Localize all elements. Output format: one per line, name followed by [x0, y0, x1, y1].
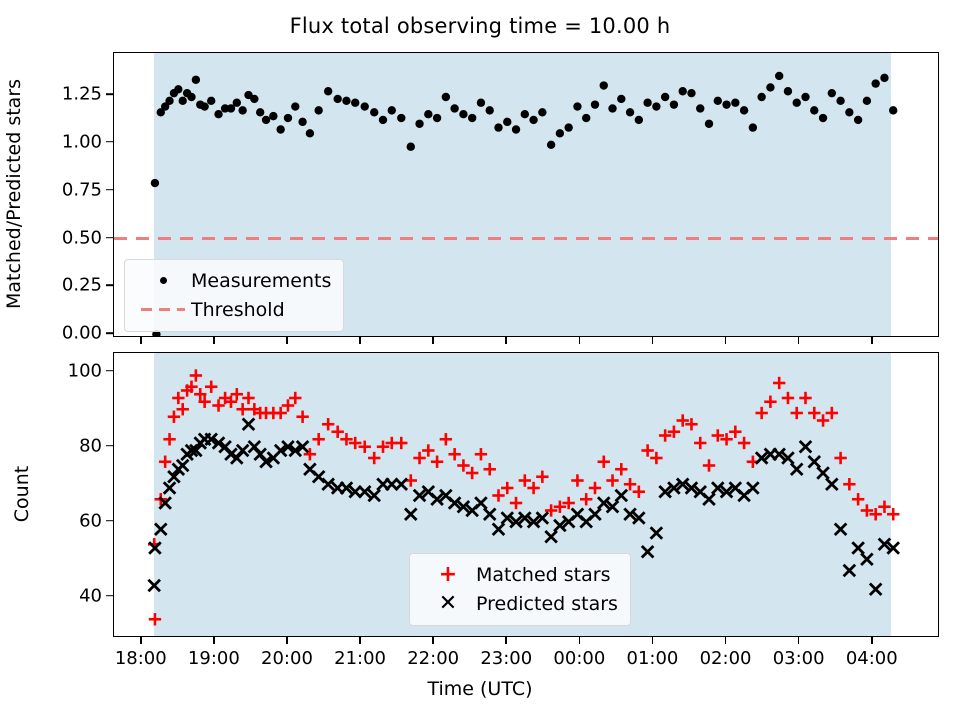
x-tick-mark	[579, 337, 581, 344]
matched-star-point	[422, 444, 434, 456]
measurement-point	[370, 108, 378, 116]
measurement-point	[494, 123, 502, 131]
y-tick-mark	[106, 370, 113, 372]
x-tick-mark	[286, 637, 288, 644]
measurement-point	[233, 99, 241, 107]
x-tick-mark	[798, 637, 800, 644]
predicted-star-point	[405, 508, 417, 520]
legend-item-predicted-stars: ✕ Predicted stars	[420, 589, 618, 618]
x-axis-label: Time (UTC)	[0, 678, 960, 700]
matched-star-point	[738, 437, 750, 449]
matched-star-point	[296, 411, 308, 423]
matched-star-point	[172, 392, 184, 404]
measurement-point	[324, 87, 332, 95]
measurement-point	[889, 106, 897, 114]
matched-star-point	[773, 377, 785, 389]
matched-star-point	[205, 381, 217, 393]
measurement-point	[810, 106, 818, 114]
measurement-point	[284, 114, 292, 122]
x-tick-mark	[140, 337, 142, 344]
measurement-point	[151, 179, 159, 187]
measurement-point	[635, 116, 643, 124]
matched-star-point	[799, 392, 811, 404]
matched-star-point	[729, 426, 741, 438]
x-tick-mark	[725, 637, 727, 644]
x-tick-label: 03:00	[773, 648, 825, 669]
x-tick-mark	[798, 337, 800, 344]
measurement-point	[749, 123, 757, 131]
matched-star-point	[624, 478, 636, 490]
measurement-point	[351, 99, 359, 107]
measurement-point	[529, 116, 537, 124]
legend-item-matched-stars: + Matched stars	[420, 560, 618, 589]
predicted-star-point	[835, 523, 847, 535]
measurement-point	[165, 97, 173, 105]
measurement-point	[256, 108, 264, 116]
x-tick-label: 21:00	[334, 648, 386, 669]
matched-star-point	[457, 459, 469, 471]
predicted-star-point	[651, 527, 663, 539]
measurement-point	[291, 102, 299, 110]
predicted-star-point	[642, 546, 654, 558]
predicted-star-point	[395, 478, 407, 490]
measurement-point	[361, 102, 369, 110]
predicted-star-point	[237, 445, 249, 457]
matched-star-point	[878, 501, 890, 513]
measurement-point	[342, 97, 350, 105]
legend-label-matched-stars: Matched stars	[476, 564, 610, 586]
top-panel-y-axis-label: Matched/Predicted stars	[3, 79, 25, 309]
plus-marker-icon: +	[420, 564, 476, 586]
measurement-point	[608, 104, 616, 112]
matched-star-point	[484, 463, 496, 475]
measurement-point	[442, 93, 450, 101]
matched-star-point	[834, 452, 846, 464]
measurement-point	[477, 99, 485, 107]
page-title: Flux total observing time = 10.00 h	[0, 14, 960, 38]
y-tick-mark	[106, 595, 113, 597]
measurement-point	[757, 93, 765, 101]
y-tick-label: 0.50	[62, 227, 102, 248]
matched-star-point	[236, 403, 248, 415]
measurement-point	[766, 83, 774, 91]
measurement-point	[801, 93, 809, 101]
matched-star-point	[212, 399, 224, 411]
matched-star-point	[580, 493, 592, 505]
matched-star-point	[633, 486, 645, 498]
matched-star-point	[598, 456, 610, 468]
matched-star-point	[168, 411, 180, 423]
matched-star-point	[589, 482, 601, 494]
matched-star-point	[843, 478, 855, 490]
cross-marker-icon: ✕	[420, 593, 476, 615]
x-tick-mark	[286, 337, 288, 344]
top-panel-legend: Measurements Threshold	[124, 259, 344, 332]
predicted-star-point	[808, 456, 820, 468]
predicted-star-point	[493, 523, 505, 535]
predicted-star-point	[703, 493, 715, 505]
predicted-star-point	[545, 531, 557, 543]
measurement-point	[503, 118, 511, 126]
predicted-star-point	[177, 460, 189, 472]
matched-star-point	[322, 418, 334, 430]
x-tick-mark	[140, 637, 142, 644]
measurement-point	[854, 116, 862, 124]
y-tick-mark	[106, 237, 113, 239]
x-tick-label: 04:00	[846, 648, 898, 669]
matched-star-point	[331, 426, 343, 438]
predicted-star-point	[475, 497, 487, 509]
matched-star-point	[149, 613, 161, 625]
measurement-point	[397, 114, 405, 122]
measurement-point	[306, 129, 314, 137]
measurements-dot-icon	[135, 277, 191, 284]
x-tick-label: 23:00	[480, 648, 532, 669]
predicted-star-point	[155, 523, 167, 535]
measurement-point	[626, 108, 634, 116]
measurement-point	[556, 129, 564, 137]
matched-star-point	[466, 467, 478, 479]
measurement-point	[705, 120, 713, 128]
matched-star-point	[312, 433, 324, 445]
measurement-point	[207, 97, 215, 105]
y-tick-mark	[106, 141, 113, 143]
measurement-point	[617, 95, 625, 103]
x-tick-mark	[871, 637, 873, 644]
x-tick-mark	[359, 337, 361, 344]
y-tick-label: 0.25	[62, 275, 102, 296]
predicted-star-point	[615, 490, 627, 502]
x-tick-mark	[505, 637, 507, 644]
matched-star-point	[782, 392, 794, 404]
x-tick-mark	[213, 337, 215, 344]
measurement-point	[652, 102, 660, 110]
predicted-star-point	[791, 463, 803, 475]
x-tick-mark	[505, 337, 507, 344]
matched-star-point	[852, 493, 864, 505]
measurement-point	[661, 93, 669, 101]
legend-label-measurements: Measurements	[191, 270, 331, 292]
measurement-point	[547, 141, 555, 149]
x-tick-label: 22:00	[407, 648, 459, 669]
measurement-point	[379, 116, 387, 124]
bottom-panel-legend: + Matched stars ✕ Predicted stars	[409, 553, 631, 626]
measurement-point	[187, 93, 195, 101]
matched-star-point	[177, 403, 189, 415]
measurement-point	[740, 106, 748, 114]
y-tick-label: 1.25	[62, 84, 102, 105]
matched-star-point	[817, 414, 829, 426]
matched-star-point	[650, 452, 662, 464]
matched-star-point	[492, 489, 504, 501]
matched-star-point	[368, 452, 380, 464]
measurement-point	[573, 102, 581, 110]
matched-star-point	[413, 452, 425, 464]
measurement-point	[679, 87, 687, 95]
measurement-point	[836, 97, 844, 105]
x-tick-mark	[652, 637, 654, 644]
measurement-point	[731, 99, 739, 107]
matched-star-point	[475, 448, 487, 460]
y-tick-mark	[106, 332, 113, 334]
matched-star-point	[606, 474, 618, 486]
x-tick-label: 01:00	[627, 648, 679, 669]
bottom-panel-y-axis-label: Count	[11, 466, 33, 522]
predicted-star-point	[826, 478, 838, 490]
y-tick-label: 0.00	[62, 323, 102, 344]
x-tick-mark	[871, 337, 873, 344]
legend-item-measurements: Measurements	[135, 266, 331, 295]
x-tick-label: 18:00	[115, 648, 167, 669]
measurement-point	[214, 110, 222, 118]
y-tick-mark	[106, 520, 113, 522]
predicted-star-point	[747, 482, 759, 494]
measurement-point	[582, 114, 590, 122]
measurement-point	[521, 110, 529, 118]
measurement-point	[238, 106, 246, 114]
measurement-point	[828, 89, 836, 97]
matched-star-point	[703, 459, 715, 471]
predicted-star-point	[817, 467, 829, 479]
matched-star-point	[694, 437, 706, 449]
matched-star-point	[289, 392, 301, 404]
measurement-point	[468, 114, 476, 122]
x-tick-mark	[579, 637, 581, 644]
matched-star-point	[274, 407, 286, 419]
measurement-point	[486, 106, 494, 114]
measurement-point	[600, 81, 608, 89]
matched-star-point	[431, 456, 443, 468]
measurement-point	[643, 99, 651, 107]
matched-star-point	[615, 463, 627, 475]
threshold-dash-icon	[135, 308, 191, 311]
measurement-point	[591, 100, 599, 108]
measurement-point	[714, 97, 722, 105]
y-tick-mark	[106, 189, 113, 191]
matched-star-point	[395, 437, 407, 449]
measurement-point	[880, 74, 888, 82]
predicted-star-point	[844, 565, 856, 577]
x-tick-label: 20:00	[261, 648, 313, 669]
measurement-point	[459, 110, 467, 118]
matched-star-point	[159, 456, 171, 468]
y-tick-label: 1.00	[62, 131, 102, 152]
matched-star-point	[242, 392, 254, 404]
y-tick-mark	[106, 285, 113, 287]
matched-star-point	[791, 407, 803, 419]
measurement-point	[512, 125, 520, 133]
matched-star-point	[448, 448, 460, 460]
measurement-point	[863, 97, 871, 105]
matched-star-point	[440, 433, 452, 445]
y-tick-mark	[106, 93, 113, 95]
x-tick-mark	[725, 337, 727, 344]
predicted-star-point	[800, 441, 812, 453]
measurement-point	[298, 118, 306, 126]
matched-star-point	[519, 474, 531, 486]
x-tick-label: 02:00	[700, 648, 752, 669]
measurement-point	[407, 143, 415, 151]
x-tick-mark	[213, 637, 215, 644]
measurement-point	[845, 108, 853, 116]
matched-star-point	[510, 497, 522, 509]
y-tick-label: 60	[79, 510, 102, 531]
matched-star-point	[231, 388, 243, 400]
matched-star-point	[764, 396, 776, 408]
matched-star-point	[163, 433, 175, 445]
measurement-point	[696, 104, 704, 112]
predicted-star-point	[589, 508, 601, 520]
matched-star-point	[501, 482, 513, 494]
measurement-point	[174, 85, 182, 93]
measurement-point	[793, 99, 801, 107]
matched-star-point	[887, 508, 899, 520]
measurement-point	[433, 114, 441, 122]
matched-star-point	[527, 482, 539, 494]
legend-label-predicted-stars: Predicted stars	[476, 593, 618, 615]
y-tick-label: 0.75	[62, 179, 102, 200]
predicted-star-point	[852, 542, 864, 554]
measurement-point	[314, 106, 322, 114]
matched-star-point	[190, 369, 202, 381]
measurement-point	[538, 108, 546, 116]
matched-star-point	[571, 474, 583, 486]
matched-star-point	[282, 399, 294, 411]
measurement-point	[819, 114, 827, 122]
matched-star-point	[755, 407, 767, 419]
measurement-point	[333, 95, 341, 103]
x-tick-label: 19:00	[188, 648, 240, 669]
measurement-point	[269, 112, 277, 120]
predicted-star-point	[861, 553, 873, 565]
measurement-point	[784, 87, 792, 95]
y-tick-label: 40	[79, 585, 102, 606]
y-tick-label: 100	[68, 360, 102, 381]
measurement-point	[775, 72, 783, 80]
figure-root: Flux total observing time = 10.00 h 0.00…	[0, 0, 960, 720]
predicted-star-point	[243, 418, 255, 430]
measurement-point	[192, 76, 200, 84]
measurement-point	[276, 125, 284, 133]
measurement-point	[388, 106, 396, 114]
measurement-point	[424, 110, 432, 118]
y-tick-label: 80	[79, 435, 102, 456]
measurement-point	[722, 100, 730, 108]
measurement-point	[415, 120, 423, 128]
x-tick-mark	[359, 637, 361, 644]
predicted-star-point	[484, 508, 496, 520]
predicted-star-point	[313, 471, 325, 483]
x-tick-mark	[652, 337, 654, 344]
measurement-point	[687, 89, 695, 97]
measurement-point	[670, 100, 678, 108]
predicted-star-point	[148, 580, 160, 592]
measurement-point	[564, 123, 572, 131]
matched-star-point	[826, 407, 838, 419]
measurement-point	[250, 95, 258, 103]
legend-label-threshold: Threshold	[191, 299, 285, 321]
x-tick-mark	[432, 637, 434, 644]
x-tick-mark	[432, 337, 434, 344]
measurement-point	[179, 97, 187, 105]
predicted-star-point	[164, 482, 176, 494]
matched-star-point	[536, 471, 548, 483]
measurement-point	[450, 104, 458, 112]
matched-star-point	[641, 444, 653, 456]
y-tick-mark	[106, 445, 113, 447]
measurement-point	[262, 116, 270, 124]
x-tick-label: 00:00	[553, 648, 605, 669]
measurement-point	[871, 79, 879, 87]
measurement-point	[200, 102, 208, 110]
matched-star-point	[808, 407, 820, 419]
predicted-star-point	[870, 583, 882, 595]
legend-item-threshold: Threshold	[135, 295, 331, 324]
